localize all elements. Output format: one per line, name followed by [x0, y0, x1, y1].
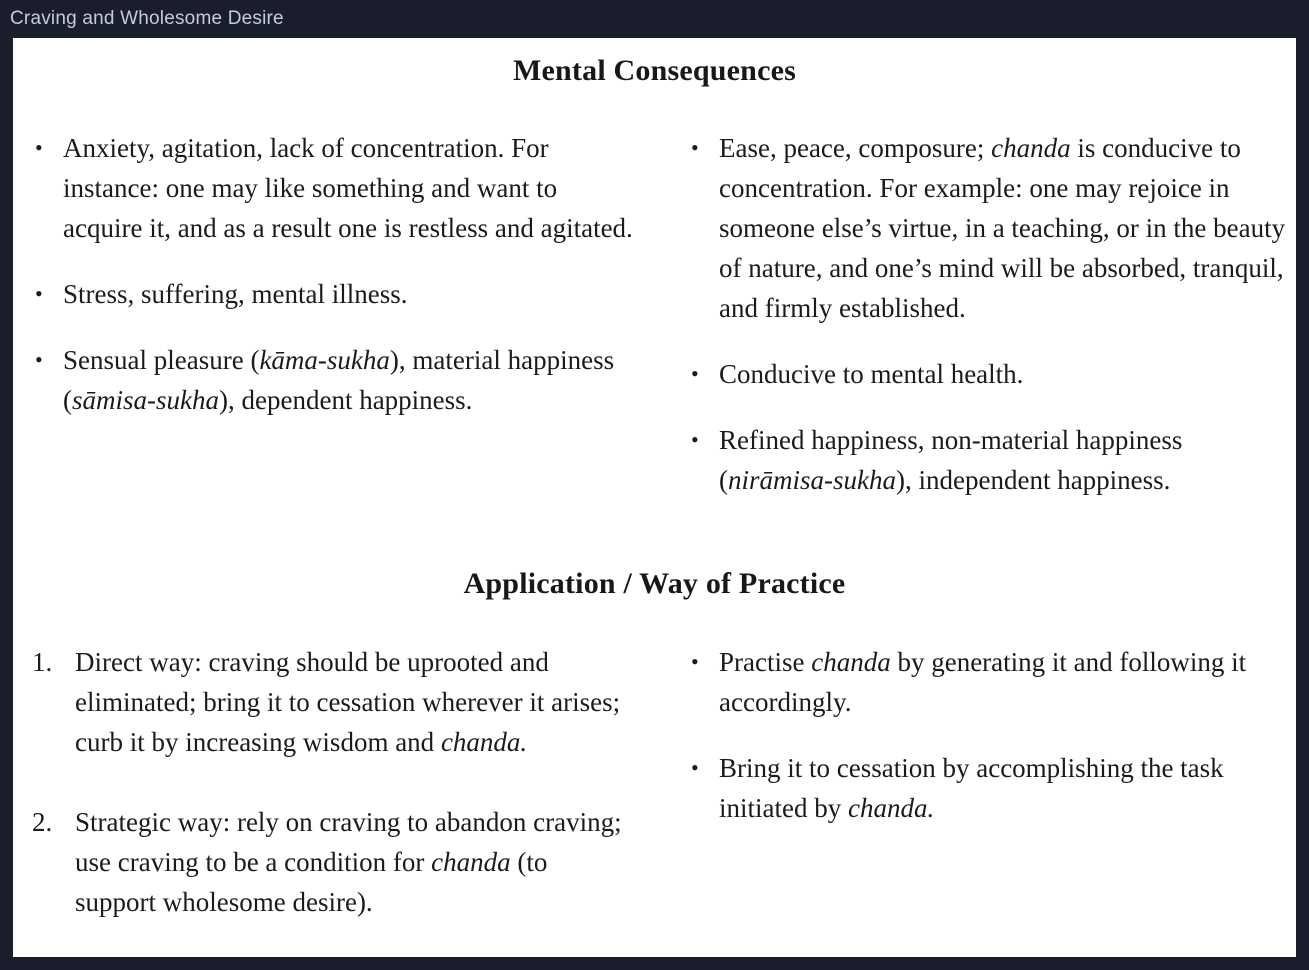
application-right-column: Practise chanda by generating it and fol…: [678, 642, 1296, 828]
bullet-list-item: Anxiety, agitation, lack of concentratio…: [13, 128, 633, 248]
mental-consequences-left-column: Anxiety, agitation, lack of concentratio…: [13, 128, 633, 420]
text-run: Sensual pleasure (: [63, 345, 259, 375]
pali-term: chanda.: [441, 727, 527, 757]
text-run: ), independent happiness.: [896, 465, 1170, 495]
bullet-list-item: Sensual pleasure (kāma-sukha), material …: [13, 340, 633, 420]
mental-consequences-right-column: Ease, peace, composure; chanda is conduc…: [678, 128, 1296, 500]
text-run: Practise: [719, 647, 811, 677]
bullet-list-item: Bring it to cessation by accomplishing t…: [678, 748, 1296, 828]
bullet-list-item: Conducive to mental health.: [678, 354, 1296, 394]
pali-term: chanda: [991, 133, 1070, 163]
window-titlebar: Craving and Wholesome Desire: [0, 0, 1309, 38]
window-title: Craving and Wholesome Desire: [10, 7, 284, 31]
numbered-list-item: Direct way: craving should be uprooted a…: [13, 642, 633, 762]
section-heading-mental-consequences: Mental Consequences: [13, 53, 1296, 89]
pali-term: kāma-sukha: [259, 345, 389, 375]
text-run: Stress, suffering, mental illness.: [63, 279, 407, 309]
pali-term: sāmisa-sukha: [72, 385, 219, 415]
bullet-list-item: Ease, peace, composure; chanda is conduc…: [678, 128, 1296, 328]
text-run: Conducive to mental health.: [719, 359, 1023, 389]
bullet-list-item: Practise chanda by generating it and fol…: [678, 642, 1296, 722]
pali-term: chanda: [431, 847, 510, 877]
pali-term: chanda: [811, 647, 890, 677]
text-run: ), dependent happiness.: [219, 385, 472, 415]
application-left-column: Direct way: craving should be uprooted a…: [13, 642, 633, 922]
text-run: Anxiety, agitation, lack of concentratio…: [63, 133, 633, 243]
numbered-list: Direct way: craving should be uprooted a…: [13, 642, 633, 922]
text-run: Ease, peace, composure;: [719, 133, 991, 163]
bullet-list-item: Refined happiness, non-material happines…: [678, 420, 1296, 500]
numbered-list-item: Strategic way: rely on craving to abando…: [13, 802, 633, 922]
text-run: Bring it to cessation by accomplishing t…: [719, 753, 1224, 823]
bulleted-list: Anxiety, agitation, lack of concentratio…: [13, 128, 633, 420]
section-heading-application-way-of-practice: Application / Way of Practice: [13, 566, 1296, 602]
slide-canvas: Mental Consequences Anxiety, agitation, …: [13, 38, 1296, 957]
pali-term: nirāmisa-sukha: [728, 465, 896, 495]
slide-viewer-window: Craving and Wholesome Desire Mental Cons…: [0, 0, 1309, 970]
text-run: Direct way: craving should be uprooted a…: [75, 647, 620, 757]
bullet-list-item: Stress, suffering, mental illness.: [13, 274, 633, 314]
bulleted-list: Ease, peace, composure; chanda is conduc…: [678, 128, 1296, 500]
pali-term: chanda.: [848, 793, 934, 823]
bulleted-list: Practise chanda by generating it and fol…: [678, 642, 1296, 828]
